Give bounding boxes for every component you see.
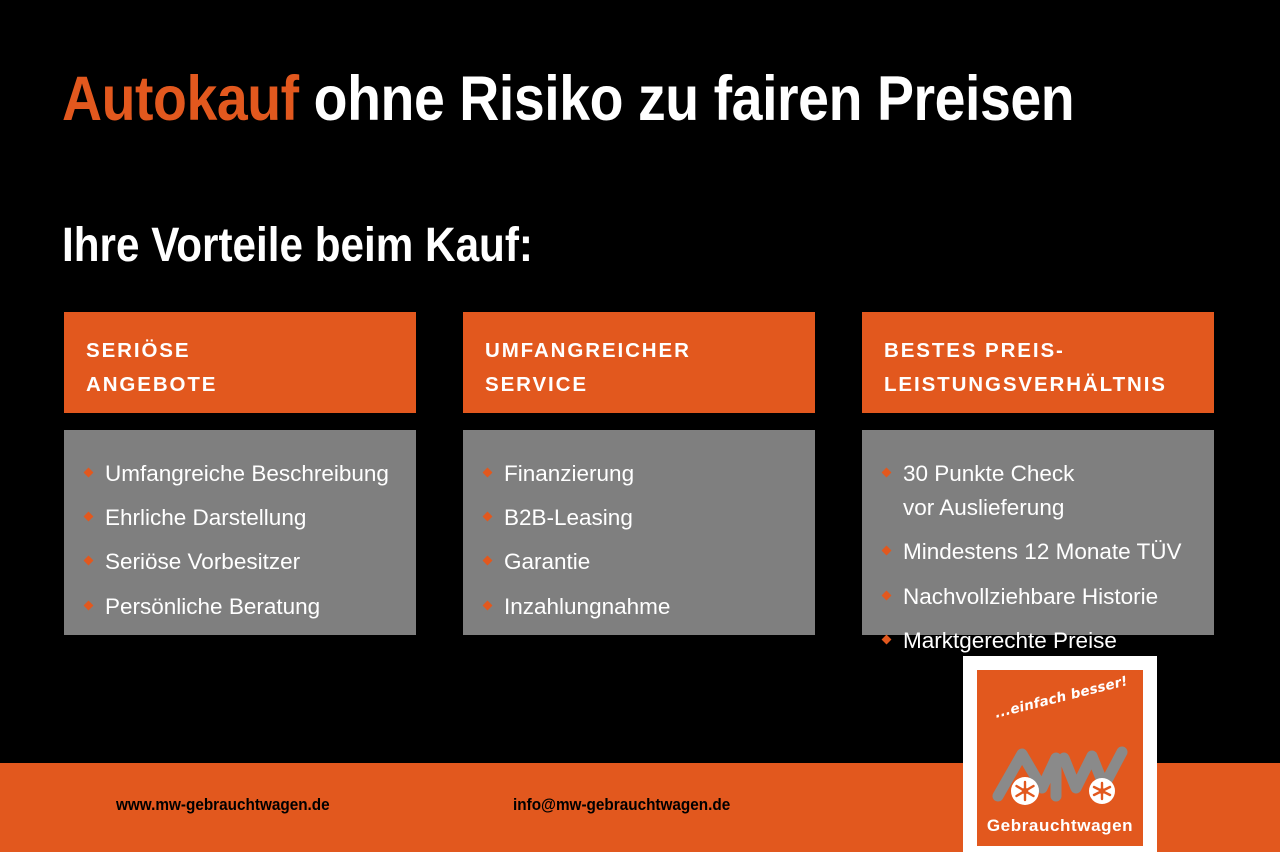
list-item-line1: Finanzierung (504, 461, 634, 486)
column-header-3-line2: LEISTUNGSVERHÄLTNIS (884, 368, 1192, 402)
benefit-column-bestes-preis-leistungsverhaeltnis: BESTES PREIS- LEISTUNGSVERHÄLTNIS 30 Pun… (862, 312, 1214, 635)
list-item: Marktgerechte Preise (880, 624, 1196, 658)
list-item: Finanzierung (481, 457, 797, 491)
column-header-1-line2: ANGEBOTE (86, 368, 394, 402)
list-item: B2B-Leasing (481, 501, 797, 535)
column-body-2: Finanzierung B2B-Leasing Garantie Inzahl… (463, 430, 815, 635)
column-body-3: 30 Punkte Check vor Auslieferung Mindest… (862, 430, 1214, 635)
bullet-diamond-icon (882, 634, 892, 644)
list-item-line1: Persönliche Beratung (105, 594, 320, 619)
title-rest: ohne Risiko zu fairen Preisen (299, 64, 1075, 134)
column-header-3: BESTES PREIS- LEISTUNGSVERHÄLTNIS (862, 312, 1214, 413)
list-item-line1: Nachvollziehbare Historie (903, 584, 1158, 609)
column-body-1: Umfangreiche Beschreibung Ehrliche Darst… (64, 430, 416, 635)
bullet-diamond-icon (84, 556, 94, 566)
column-header-2-line2: SERVICE (485, 368, 793, 402)
list-item: Umfangreiche Beschreibung (82, 457, 398, 491)
company-logo[interactable]: ...einfach besser! Gebrauchtwagen (963, 656, 1157, 852)
list-item-line1: Marktgerechte Preise (903, 628, 1117, 653)
list-item: Inzahlungnahme (481, 590, 797, 624)
bullet-diamond-icon (483, 600, 493, 610)
column-header-1-line1: SERIÖSE (86, 334, 394, 368)
footer-email[interactable]: info@mw-gebrauchtwagen.de (513, 795, 730, 815)
mw-monogram-icon (992, 744, 1128, 806)
list-item-line2: vor Auslieferung (903, 491, 1196, 525)
title-accent-word: Autokauf (62, 64, 299, 134)
list-item-line1: Seriöse Vorbesitzer (105, 549, 300, 574)
bullet-diamond-icon (882, 468, 892, 478)
list-item-line1: Inzahlungnahme (504, 594, 670, 619)
list-item: Nachvollziehbare Historie (880, 580, 1196, 614)
list-item-line1: Umfangreiche Beschreibung (105, 461, 389, 486)
benefit-list-2: Finanzierung B2B-Leasing Garantie Inzahl… (481, 457, 797, 624)
benefit-list-1: Umfangreiche Beschreibung Ehrliche Darst… (82, 457, 398, 624)
bullet-diamond-icon (483, 468, 493, 478)
bullet-diamond-icon (84, 468, 94, 478)
list-item-line1: 30 Punkte Check (903, 461, 1074, 486)
footer-website[interactable]: www.mw-gebrauchtwagen.de (116, 795, 330, 815)
list-item: Ehrliche Darstellung (82, 501, 398, 535)
bullet-diamond-icon (882, 590, 892, 600)
list-item: Garantie (481, 545, 797, 579)
benefit-column-serioese-angebote: SERIÖSE ANGEBOTE Umfangreiche Beschreibu… (64, 312, 416, 635)
column-header-3-line1: BESTES PREIS- (884, 334, 1192, 368)
bullet-diamond-icon (882, 546, 892, 556)
bullet-diamond-icon (84, 600, 94, 610)
list-item: Mindestens 12 Monate TÜV (880, 535, 1196, 569)
logo-tagline: ...einfach besser! (993, 673, 1129, 722)
bullet-diamond-icon (84, 512, 94, 522)
benefits-columns: SERIÖSE ANGEBOTE Umfangreiche Beschreibu… (64, 312, 1216, 635)
bullet-diamond-icon (483, 512, 493, 522)
list-item: Seriöse Vorbesitzer (82, 545, 398, 579)
list-item-line1: Garantie (504, 549, 590, 574)
poster-canvas: Autokauf ohne Risiko zu fairen Preisen I… (0, 0, 1280, 852)
page-title: Autokauf ohne Risiko zu fairen Preisen (62, 68, 1074, 131)
list-item: 30 Punkte Check vor Auslieferung (880, 457, 1196, 525)
subheading: Ihre Vorteile beim Kauf: (62, 222, 533, 270)
column-header-2: UMFANGREICHER SERVICE (463, 312, 815, 413)
benefit-list-3: 30 Punkte Check vor Auslieferung Mindest… (880, 457, 1196, 658)
list-item-line1: Mindestens 12 Monate TÜV (903, 539, 1181, 564)
column-header-2-line1: UMFANGREICHER (485, 334, 793, 368)
list-item: Persönliche Beratung (82, 590, 398, 624)
logo-inner-panel: ...einfach besser! Gebrauchtwagen (977, 670, 1143, 846)
benefit-column-umfangreicher-service: UMFANGREICHER SERVICE Finanzierung B2B-L… (463, 312, 815, 635)
logo-wordmark: Gebrauchtwagen (977, 816, 1143, 836)
list-item-line1: Ehrliche Darstellung (105, 505, 306, 530)
column-header-1: SERIÖSE ANGEBOTE (64, 312, 416, 413)
list-item-line1: B2B-Leasing (504, 505, 633, 530)
bullet-diamond-icon (483, 556, 493, 566)
